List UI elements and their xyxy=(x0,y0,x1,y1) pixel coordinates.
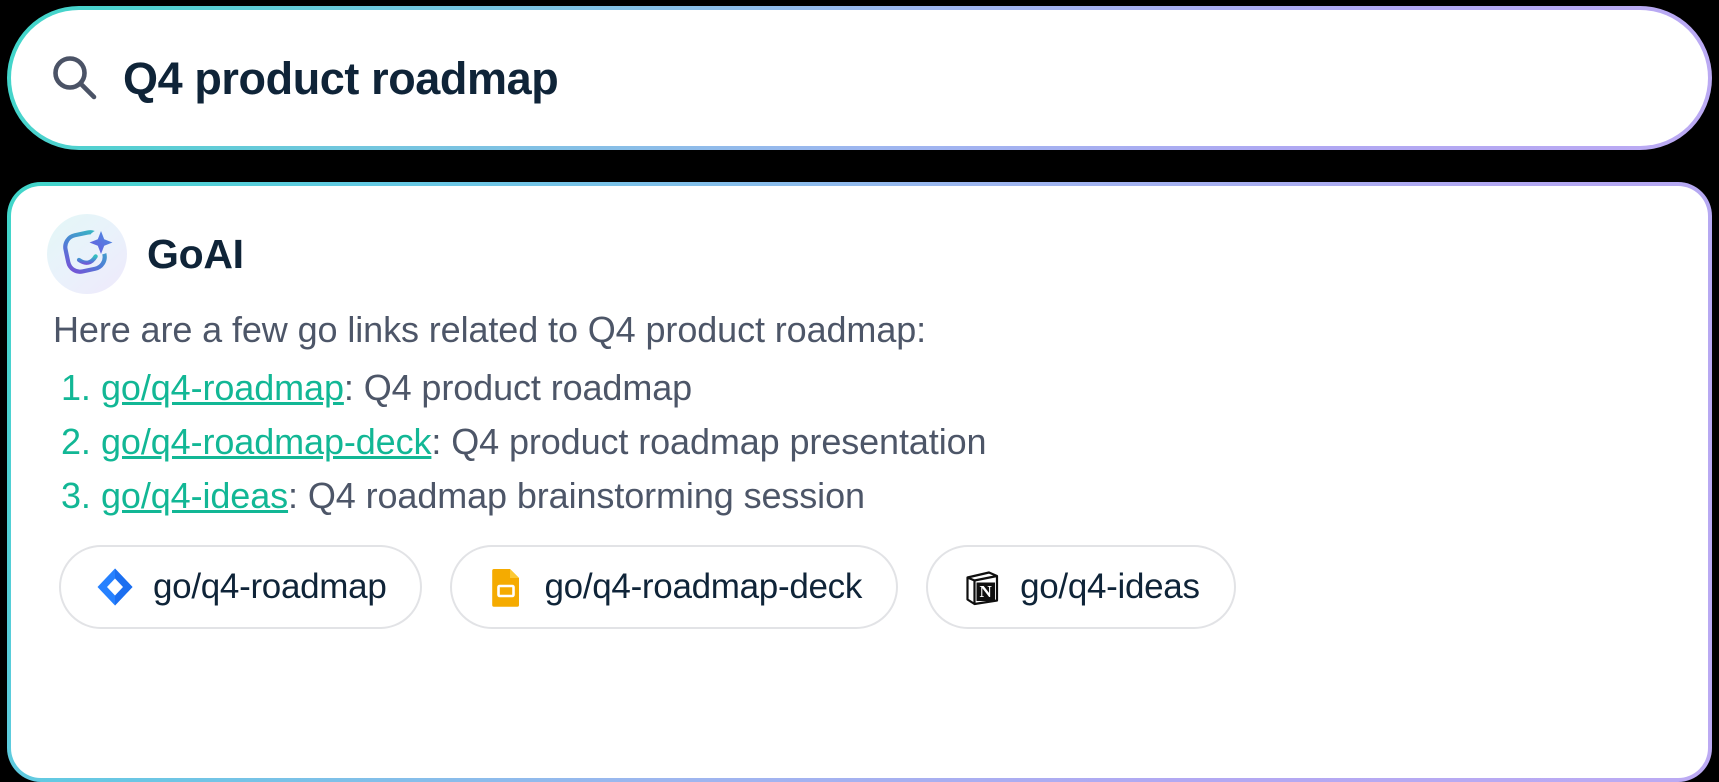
brand-title: GoAI xyxy=(147,234,244,275)
screen-root: Q4 product roadmap xyxy=(0,0,1719,744)
answer-body: Here are a few go links related to Q4 pr… xyxy=(47,306,1672,629)
list-item-number: 1. xyxy=(61,361,91,415)
answer-card: GoAI Here are a few go links related to … xyxy=(11,186,1708,778)
list-item-description: Q4 product roadmap xyxy=(364,367,692,408)
go-link[interactable]: go/q4-roadmap xyxy=(101,367,344,408)
go-link[interactable]: go/q4-roadmap-deck xyxy=(101,421,431,462)
google-slides-icon xyxy=(486,567,526,607)
list-item: 3.go/q4-ideas: Q4 roadmap brainstorming … xyxy=(53,469,1672,523)
answer-card-header: GoAI xyxy=(47,214,1672,294)
chip-label: go/q4-ideas xyxy=(1020,569,1200,604)
list-item-number: 3. xyxy=(61,469,91,523)
chip-label: go/q4-roadmap xyxy=(153,569,386,604)
search-bar-gradient-frame: Q4 product roadmap xyxy=(7,6,1712,150)
go-link[interactable]: go/q4-ideas xyxy=(101,475,288,516)
list-item-number: 2. xyxy=(61,415,91,469)
svg-text:N: N xyxy=(980,582,993,601)
goai-sparkle-smiley-icon xyxy=(60,227,114,281)
chip-label: go/q4-roadmap-deck xyxy=(544,569,862,604)
jira-icon xyxy=(95,567,135,607)
search-input-value[interactable]: Q4 product roadmap xyxy=(123,56,558,101)
search-bar[interactable]: Q4 product roadmap xyxy=(11,10,1708,146)
list-item-separator: : xyxy=(288,475,308,516)
chip-go-q4-ideas[interactable]: N go/q4-ideas xyxy=(926,545,1236,629)
go-link-chip-row: go/q4-roadmap go/q4-roadmap-deck xyxy=(53,545,1672,629)
chip-go-q4-roadmap[interactable]: go/q4-roadmap xyxy=(59,545,422,629)
list-item-separator: : xyxy=(431,421,451,462)
list-item-description: Q4 product roadmap presentation xyxy=(451,421,986,462)
list-item-description: Q4 roadmap brainstorming session xyxy=(308,475,865,516)
answer-lead-text: Here are a few go links related to Q4 pr… xyxy=(53,306,1672,355)
list-item: 1.go/q4-roadmap: Q4 product roadmap xyxy=(53,361,1672,415)
search-icon xyxy=(49,52,101,104)
answer-card-gradient-frame: GoAI Here are a few go links related to … xyxy=(7,182,1712,782)
list-item: 2.go/q4-roadmap-deck: Q4 product roadmap… xyxy=(53,415,1672,469)
list-item-separator: : xyxy=(344,367,364,408)
goai-logo-badge xyxy=(47,214,127,294)
answer-link-list: 1.go/q4-roadmap: Q4 product roadmap 2.go… xyxy=(53,361,1672,523)
notion-icon: N xyxy=(962,567,1002,607)
chip-go-q4-roadmap-deck[interactable]: go/q4-roadmap-deck xyxy=(450,545,898,629)
